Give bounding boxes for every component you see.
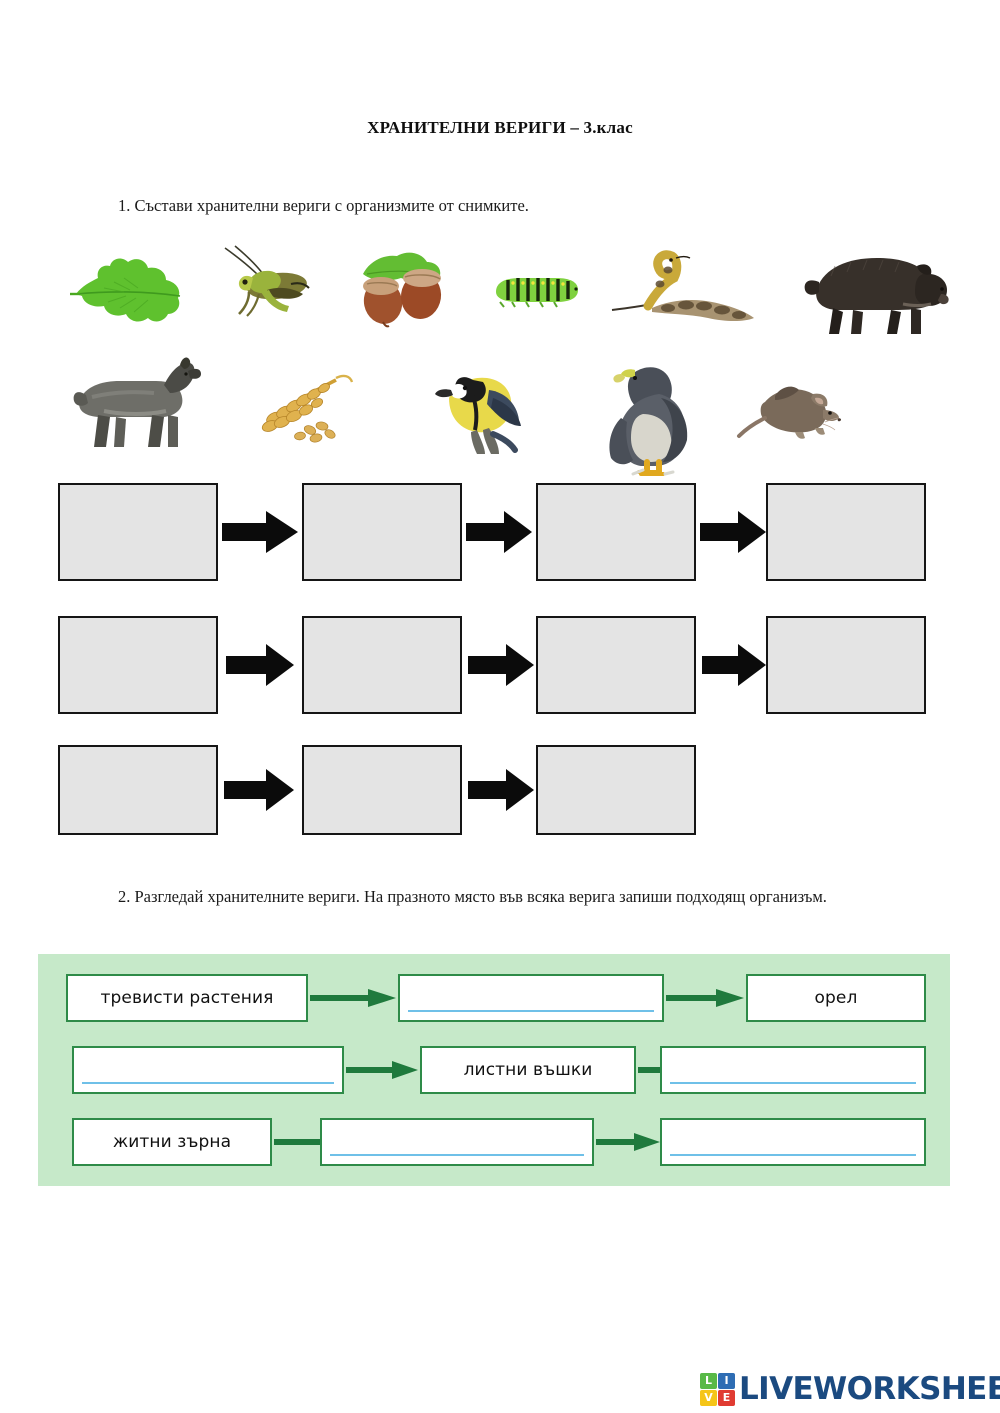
- green-chain-cell-label[interactable]: житни зърна: [72, 1118, 272, 1166]
- logo-tile-l: L: [700, 1373, 717, 1389]
- answer-rule: [670, 1082, 916, 1084]
- chain-box[interactable]: [536, 616, 696, 714]
- chain-row-3: [0, 745, 1000, 837]
- green-arrow-icon: [310, 986, 396, 1010]
- organism-image-great-tit: [415, 362, 525, 462]
- green-chain-cell-text: тревисти растения: [101, 990, 274, 1007]
- organism-image-caterpillar: [490, 268, 582, 308]
- chain-arrow-icon: [226, 642, 294, 688]
- chain-box[interactable]: [302, 616, 462, 714]
- green-chain-cell-text: житни зърна: [113, 1134, 231, 1151]
- green-chain-cell-blank[interactable]: [660, 1046, 926, 1094]
- chain-arrow-icon: [702, 642, 766, 688]
- answer-rule: [330, 1154, 584, 1156]
- green-chain-cell-blank[interactable]: [398, 974, 664, 1022]
- answer-rule: [82, 1082, 334, 1084]
- task-1-instruction: 1. Състави хранителни вериги с организми…: [118, 193, 858, 219]
- organism-image-mouse: [735, 380, 845, 442]
- chain-arrow-icon: [222, 509, 298, 555]
- logo-wordmark: LIVEWORKSHEETS: [739, 1374, 1000, 1405]
- green-chain-cell-blank[interactable]: [660, 1118, 926, 1166]
- chain-box[interactable]: [536, 745, 696, 835]
- green-chain-1: тревисти растения орел: [38, 974, 950, 1022]
- organism-image-oak-leaf: [68, 248, 188, 328]
- green-chain-3: житни зърна: [38, 1118, 950, 1166]
- chain-arrow-icon: [224, 767, 294, 813]
- liveworksheets-logo[interactable]: L I V E LIVEWORKSHEETS: [700, 1369, 1000, 1409]
- organism-image-wild-boar: [795, 248, 950, 338]
- logo-tile-i: I: [718, 1373, 735, 1389]
- answer-rule: [408, 1010, 654, 1012]
- chain-arrow-icon: [700, 509, 766, 555]
- chain-arrow-icon: [466, 509, 532, 555]
- organism-image-wheat-ear: [240, 372, 358, 444]
- chain-row-2: [0, 616, 1000, 716]
- logo-tiles: L I V E: [700, 1373, 735, 1406]
- organism-image-grasshopper: [205, 238, 315, 320]
- chain-arrow-icon: [468, 642, 534, 688]
- chain-box[interactable]: [302, 483, 462, 581]
- green-chain-cell-label[interactable]: листни въшки: [420, 1046, 636, 1094]
- organism-image-wolf: [68, 355, 203, 450]
- chain-arrow-icon: [468, 767, 534, 813]
- logo-tile-e: E: [718, 1390, 735, 1406]
- green-chain-cell-text: листни въшки: [464, 1062, 593, 1079]
- green-arrow-icon: [346, 1058, 418, 1082]
- organism-image-snake: [608, 248, 758, 326]
- chain-box[interactable]: [536, 483, 696, 581]
- page-title: ХРАНИТЕЛНИ ВЕРИГИ – 3.клас: [0, 118, 1000, 138]
- chain-box[interactable]: [58, 616, 218, 714]
- green-arrow-icon: [666, 986, 744, 1010]
- organism-image-eagle: [585, 358, 700, 476]
- green-arrow-icon: [596, 1130, 660, 1154]
- chain-row-1: [0, 483, 1000, 583]
- answer-rule: [670, 1154, 916, 1156]
- green-chain-cell-text: орел: [815, 990, 858, 1007]
- food-chain-panel: тревисти растения орел листни въшки: [38, 954, 950, 1186]
- green-chain-cell-label[interactable]: орел: [746, 974, 926, 1022]
- chain-box[interactable]: [302, 745, 462, 835]
- chain-box[interactable]: [58, 483, 218, 581]
- organism-image-acorns: [345, 248, 455, 328]
- chain-box[interactable]: [766, 483, 926, 581]
- task-2-instruction: 2. Разгледай хранителните вериги. На пра…: [118, 884, 878, 910]
- chain-box[interactable]: [58, 745, 218, 835]
- green-chain-2: листни въшки: [38, 1046, 950, 1094]
- green-chain-cell-blank[interactable]: [320, 1118, 594, 1166]
- logo-tile-v: V: [700, 1390, 717, 1406]
- green-chain-cell-blank[interactable]: [72, 1046, 344, 1094]
- chain-box[interactable]: [766, 616, 926, 714]
- green-chain-cell-label[interactable]: тревисти растения: [66, 974, 308, 1022]
